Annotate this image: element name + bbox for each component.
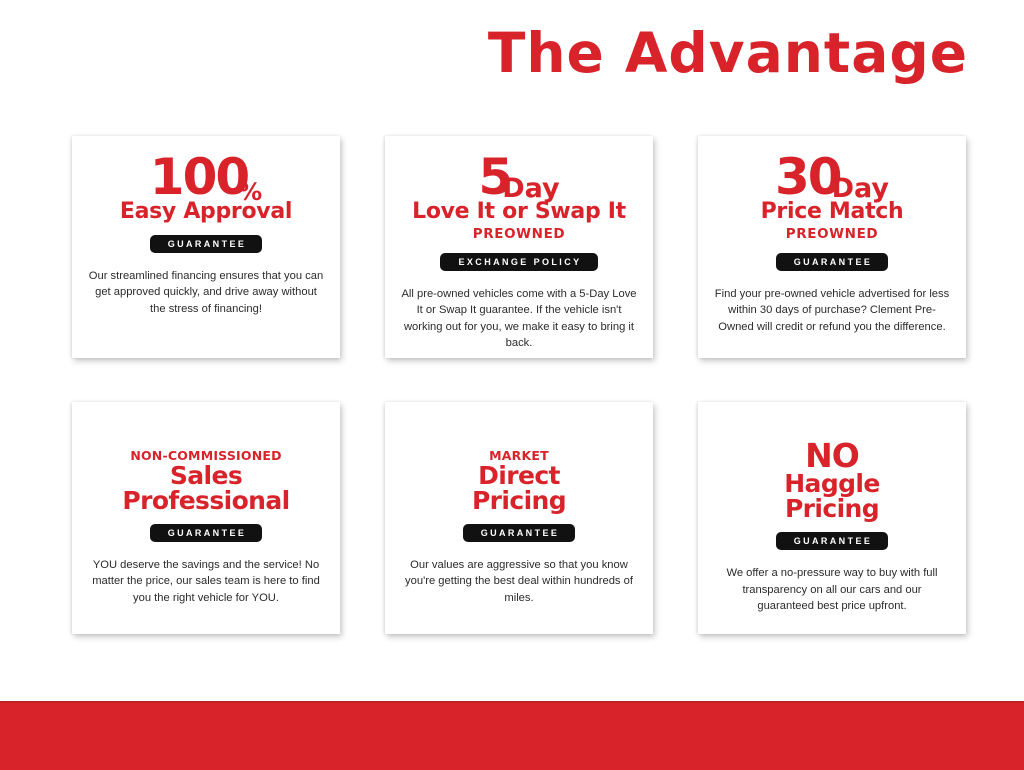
card-4-guarantee-badge: GUARANTEE [150,524,263,542]
card-2-subhead: PREOWNED [473,226,565,242]
page-title-word-advantage: Advantage [625,21,968,85]
card-4-title-line-2: Professional [122,489,289,514]
card-6-guarantee-badge: GUARANTEE [776,532,889,550]
card-2-body-text: All pre-owned vehicles come with a 5-Day… [401,286,637,351]
page-title-word-the: The [488,21,605,85]
card-5-guarantee-badge: GUARANTEE [463,524,576,542]
advantage-page: TheAdvantage 100% Easy Approval GUARANTE… [0,0,1024,768]
page-header: TheAdvantage [0,14,1024,92]
footer-red-bar [0,701,1024,770]
card-1-headline: Easy Approval [120,201,292,224]
card-3-big-headline: 30Day [775,154,889,200]
card-3-body-text: Find your pre-owned vehicle advertised f… [714,286,950,335]
card-3-guarantee-badge: GUARANTEE [776,253,889,271]
card-5-title-line-2: Pricing [472,489,566,514]
card-2-exchange-policy-badge: EXCHANGE POLICY [440,253,597,271]
card-6-body-text: We offer a no-pressure way to buy with f… [714,565,950,614]
card-2-big-headline: 5Day [478,154,559,200]
card-no-haggle-pricing[interactable]: NO Haggle Pricing GUARANTEE We offer a n… [698,402,966,634]
card-2-day-label: Day [502,177,559,202]
card-1-big-headline: 100% [150,154,262,200]
page-title: TheAdvantage [488,26,968,81]
card-2-headline: Love It or Swap It [412,201,626,224]
card-6-big-word: NO [805,440,859,472]
card-1-guarantee-badge: GUARANTEE [150,235,263,253]
card-3-headline: Price Match [761,201,904,224]
card-1-percent-symbol: % [238,181,262,203]
card-5-title-line-1: Direct [478,464,560,489]
advantage-card-grid: 100% Easy Approval GUARANTEE Our streaml… [72,136,970,634]
card-market-direct-pricing[interactable]: MARKET Direct Pricing GUARANTEE Our valu… [385,402,653,634]
card-4-body-text: YOU deserve the savings and the service!… [88,557,324,606]
card-1-body-text: Our streamlined financing ensures that y… [88,268,324,317]
card-6-title-line-2: Pricing [785,497,879,522]
card-3-subhead: PREOWNED [786,226,878,242]
card-4-title-line-1: Sales [170,464,242,489]
card-easy-approval[interactable]: 100% Easy Approval GUARANTEE Our streaml… [72,136,340,358]
card-3-day-label: Day [832,177,889,202]
card-price-match[interactable]: 30Day Price Match PREOWNED GUARANTEE Fin… [698,136,966,358]
card-non-commissioned-sales[interactable]: NON-COMMISSIONED Sales Professional GUAR… [72,402,340,634]
card-5-body-text: Our values are aggressive so that you kn… [401,557,637,606]
card-1-big-number: 100 [150,154,248,200]
card-love-it-or-swap-it[interactable]: 5Day Love It or Swap It PREOWNED EXCHANG… [385,136,653,358]
